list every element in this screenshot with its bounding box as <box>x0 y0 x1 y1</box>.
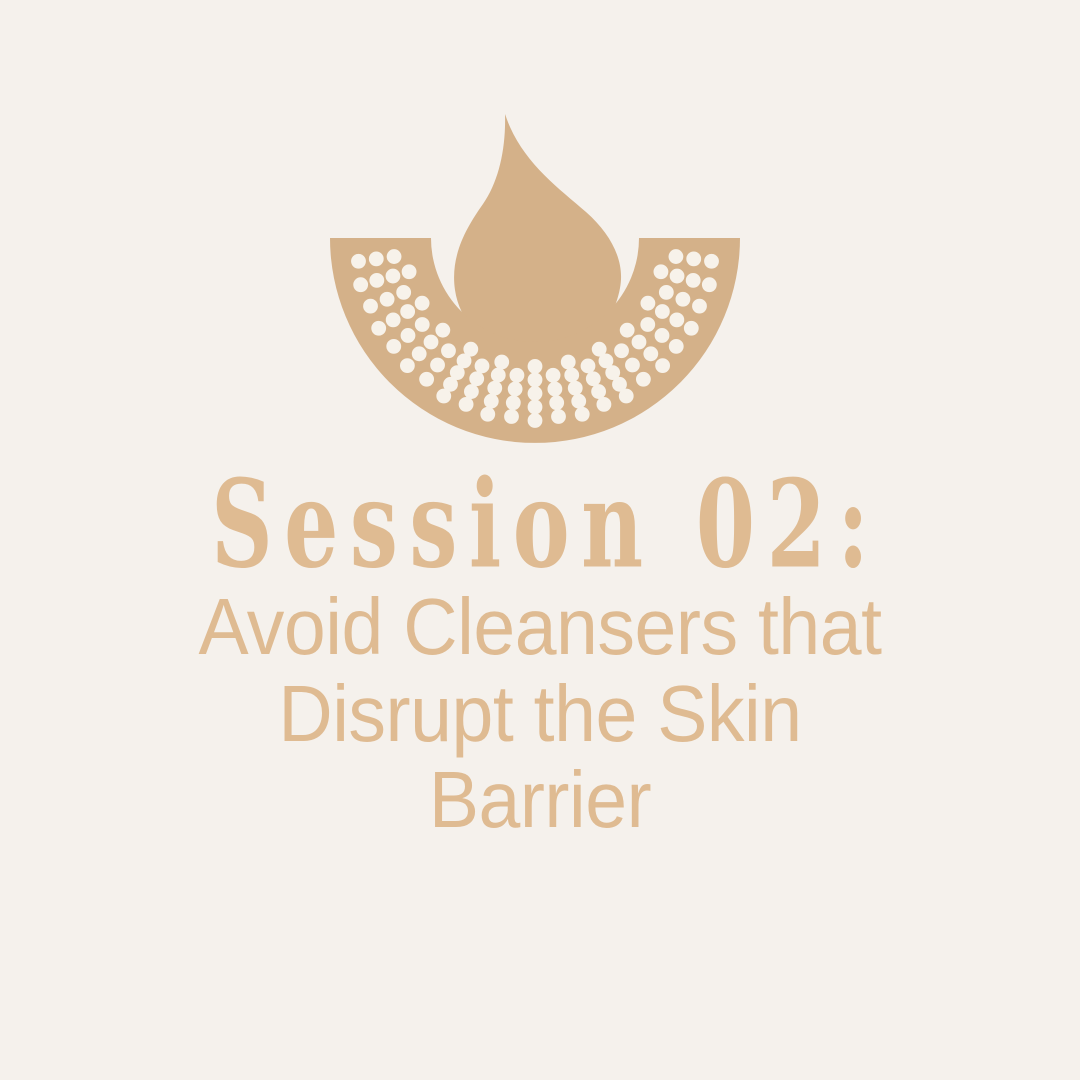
pattern-dot <box>412 346 427 361</box>
pattern-dot <box>415 317 430 332</box>
pattern-dot <box>692 299 707 314</box>
pattern-dot <box>528 373 543 388</box>
pattern-dot <box>494 355 509 370</box>
pattern-dot <box>386 312 401 327</box>
subtitle-line-1: Avoid Cleansers that <box>32 584 1047 670</box>
pattern-dot <box>632 335 647 350</box>
pattern-dot <box>640 296 655 311</box>
pattern-dot <box>659 285 674 300</box>
pattern-dot <box>351 254 366 269</box>
pattern-dot <box>655 328 670 343</box>
pattern-dot <box>619 389 634 404</box>
session-card: Session 02: Avoid Cleansers that Disrupt… <box>0 0 1080 1080</box>
pattern-dot <box>459 397 474 412</box>
pattern-dot <box>670 269 685 284</box>
pattern-dot <box>684 321 699 336</box>
pattern-dot <box>491 368 506 383</box>
pattern-dot <box>625 358 640 373</box>
pattern-dot <box>669 249 684 264</box>
pattern-dot <box>586 371 601 386</box>
pattern-dot <box>546 368 561 383</box>
brand-logo <box>0 0 1080 470</box>
pattern-dot <box>528 400 543 415</box>
pattern-dot <box>686 273 701 288</box>
droplet-icon <box>454 114 621 358</box>
pattern-dot <box>380 292 395 307</box>
pattern-dot <box>487 381 502 396</box>
pattern-dot <box>396 285 411 300</box>
pattern-dot <box>402 264 417 279</box>
pattern-dot <box>655 358 670 373</box>
pattern-dot <box>654 264 669 279</box>
pattern-dot <box>371 321 386 336</box>
pattern-dot <box>369 273 384 288</box>
page-title: Session 02: <box>97 462 983 587</box>
pattern-dot <box>441 343 456 358</box>
pattern-dot <box>643 346 658 361</box>
pattern-dot <box>387 249 402 264</box>
pattern-dot <box>547 382 562 397</box>
pattern-dot <box>484 394 499 409</box>
pattern-dot <box>581 359 596 374</box>
pattern-dot <box>401 328 416 343</box>
pattern-dot <box>568 381 583 396</box>
pattern-dot <box>549 395 564 410</box>
pattern-dot <box>669 339 684 354</box>
pattern-dot <box>400 304 415 319</box>
subtitle-line-2: Disrupt the Skin <box>32 671 1047 757</box>
pattern-dot <box>620 323 635 338</box>
pattern-dot <box>676 292 691 307</box>
pattern-dot <box>508 382 523 397</box>
pattern-dot <box>386 339 401 354</box>
pattern-dot <box>614 343 629 358</box>
pattern-dot <box>640 317 655 332</box>
logo-svg <box>0 0 1080 470</box>
pattern-dot <box>435 323 450 338</box>
pattern-dot <box>686 252 701 267</box>
pattern-dot <box>669 312 684 327</box>
pattern-dot <box>702 277 717 292</box>
pattern-dot <box>369 252 384 267</box>
pattern-dot <box>655 304 670 319</box>
subtitle: Avoid Cleansers that Disrupt the Skin Ba… <box>32 584 1047 843</box>
pattern-dot <box>386 269 401 284</box>
pattern-dot <box>564 368 579 383</box>
pattern-dot <box>528 386 543 401</box>
pattern-dot <box>363 299 378 314</box>
pattern-dot <box>528 413 543 428</box>
pattern-dot <box>415 296 430 311</box>
pattern-dot <box>571 394 586 409</box>
pattern-dot <box>597 397 612 412</box>
pattern-dot <box>704 254 719 269</box>
pattern-dot <box>575 407 590 422</box>
pattern-dot <box>591 384 606 399</box>
pattern-dot <box>504 409 519 424</box>
subtitle-line-3: Barrier <box>32 757 1047 843</box>
pattern-dot <box>436 389 451 404</box>
pattern-dot <box>561 355 576 370</box>
pattern-dot <box>430 358 445 373</box>
pattern-dot <box>480 407 495 422</box>
text-block: Session 02: Avoid Cleansers that Disrupt… <box>0 462 1080 843</box>
pattern-dot <box>469 371 484 386</box>
pattern-dot <box>551 409 566 424</box>
pattern-dot <box>353 277 368 292</box>
pattern-dot <box>528 359 543 374</box>
pattern-dot <box>475 359 490 374</box>
pattern-dot <box>400 358 415 373</box>
pattern-dot <box>510 368 525 383</box>
pattern-dot <box>464 384 479 399</box>
pattern-dot <box>419 372 434 387</box>
pattern-dot <box>636 372 651 387</box>
pattern-dot <box>506 395 521 410</box>
pattern-dot <box>424 335 439 350</box>
